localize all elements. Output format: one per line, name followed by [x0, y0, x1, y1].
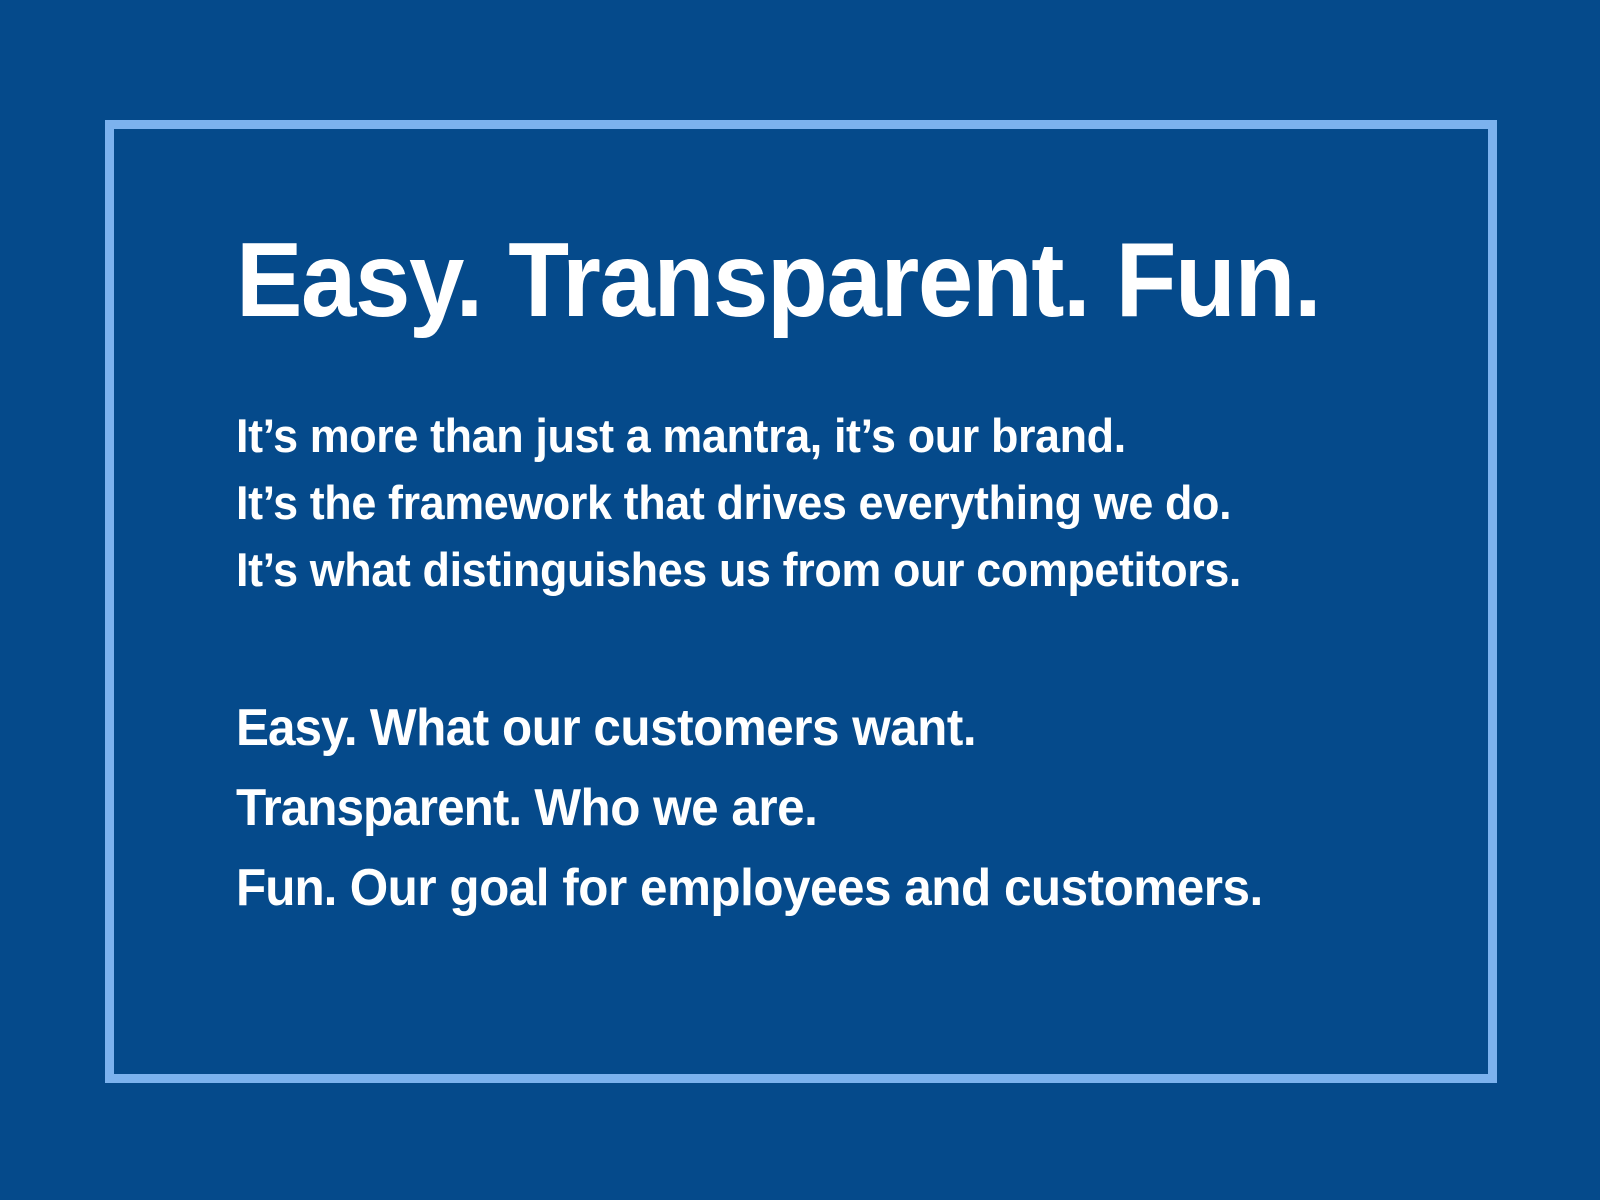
slide-canvas: Easy. Transparent. Fun. It’s more than j… [0, 0, 1600, 1200]
definition-description-transparent: Who we are. [534, 779, 817, 837]
page-title: Easy. Transparent. Fun. [236, 224, 1345, 336]
intro-line-2: It’s the framework that drives everythin… [236, 469, 1363, 536]
intro-paragraph: It’s more than just a mantra, it’s our b… [236, 402, 1363, 603]
definition-item-easy: Easy. What our customers want. [236, 688, 1357, 768]
slide-content: Easy. Transparent. Fun. It’s more than j… [236, 224, 1416, 928]
definition-description-fun: Our goal for employees and customers. [350, 859, 1263, 917]
definition-item-fun: Fun. Our goal for employees and customer… [236, 848, 1357, 928]
definition-term-easy: Easy. [236, 699, 357, 757]
definition-term-transparent: Transparent. [236, 779, 521, 837]
definition-list: Easy. What our customers want. Transpare… [236, 688, 1357, 928]
intro-line-3: It’s what distinguishes us from our comp… [236, 536, 1363, 603]
definition-description-easy: What our customers want. [370, 699, 976, 757]
definition-item-transparent: Transparent. Who we are. [236, 768, 1357, 848]
intro-line-1: It’s more than just a mantra, it’s our b… [236, 402, 1363, 469]
definition-term-fun: Fun. [236, 859, 336, 917]
